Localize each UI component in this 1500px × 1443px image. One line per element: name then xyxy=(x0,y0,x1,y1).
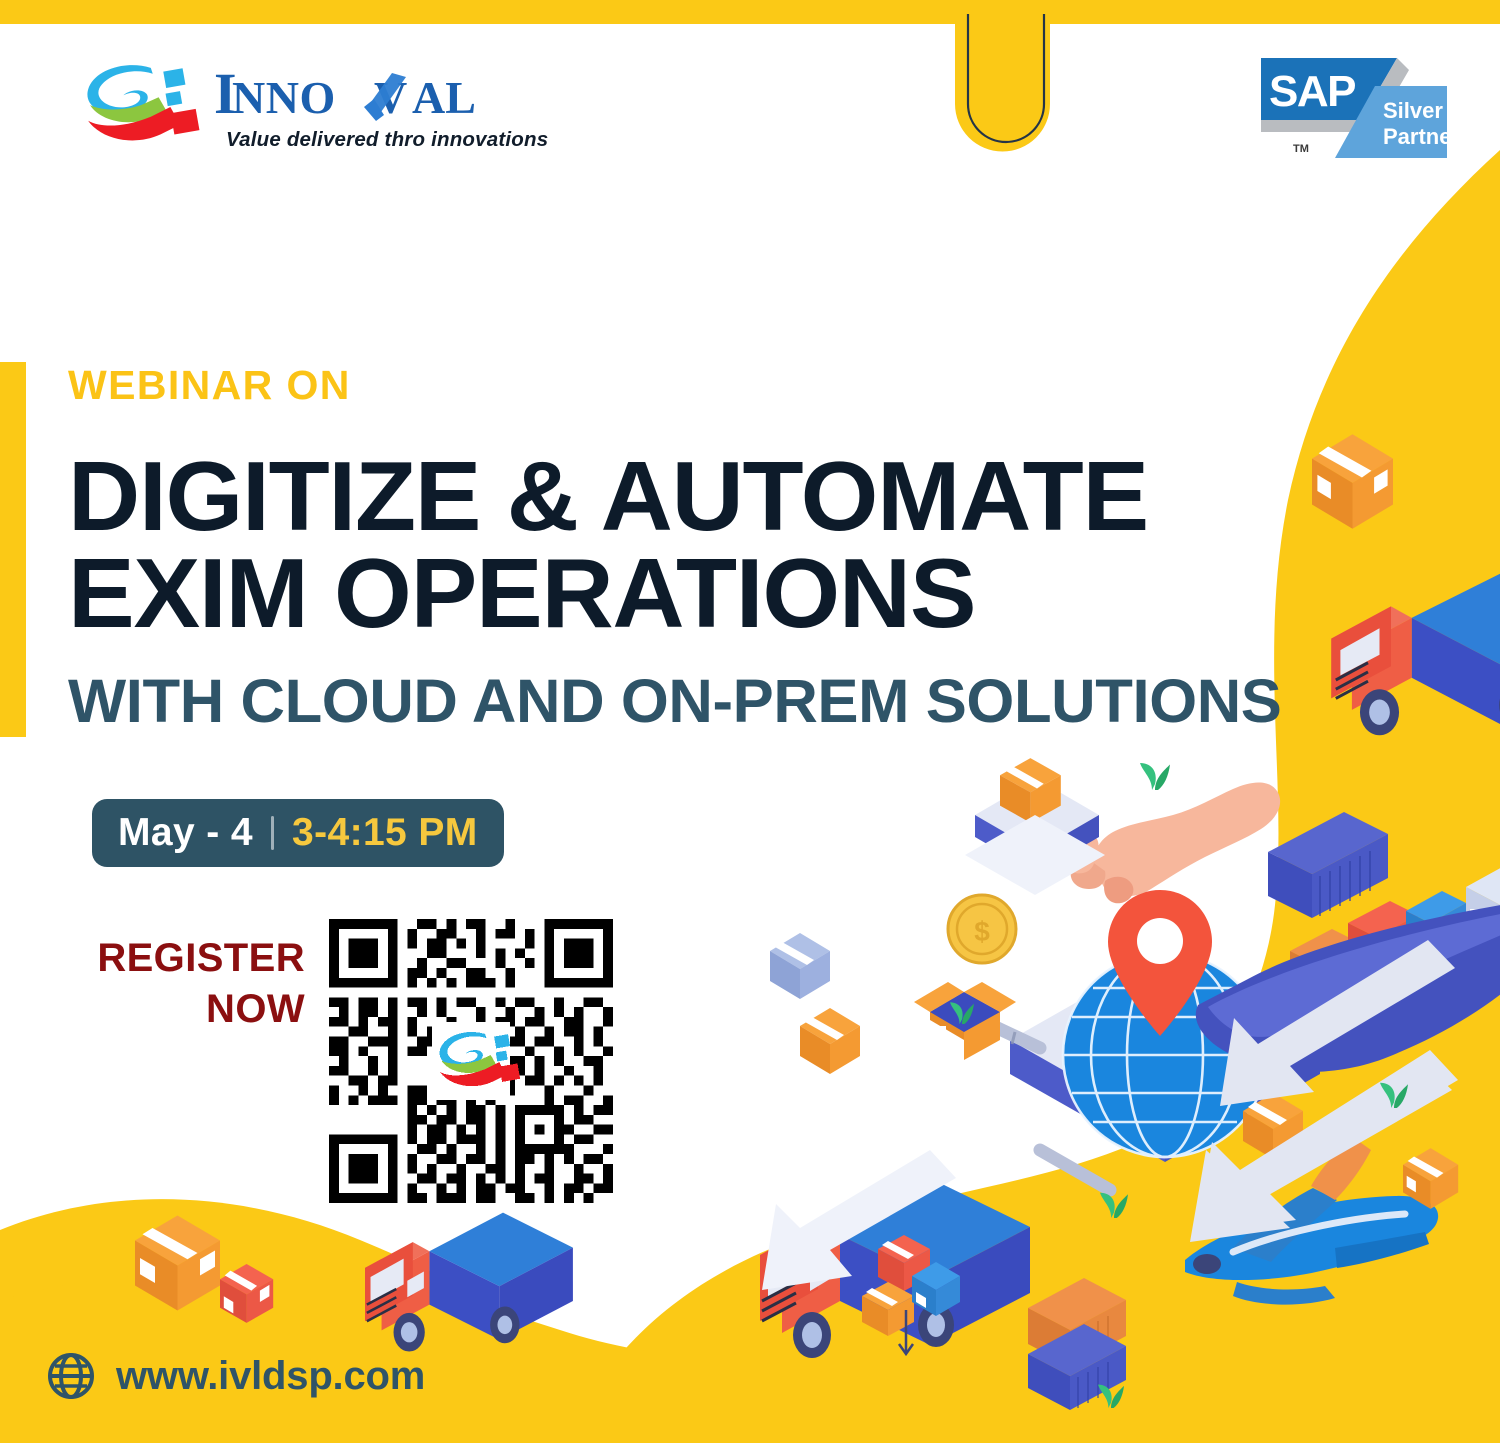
innoval-e-swoosh-icon xyxy=(82,62,200,154)
qr-code[interactable] xyxy=(329,919,613,1203)
sap-silver-partner-badge: SAP Silver Partner TM xyxy=(1257,48,1452,166)
headline-line-1: DIGITIZE & AUTOMATE xyxy=(68,448,1323,545)
subtitle: WITH CLOUD AND ON-PREM SOLUTIONS xyxy=(68,666,1281,736)
website-footer[interactable]: www.ivldsp.com xyxy=(48,1353,425,1399)
svg-text:$: $ xyxy=(974,916,990,947)
schedule-time: 3-4:15 PM xyxy=(292,811,478,855)
svg-text:NNO: NNO xyxy=(232,72,336,123)
svg-text:AL: AL xyxy=(412,72,476,123)
eyebrow-label: WEBINAR ON xyxy=(68,362,351,409)
register-now-label: REGISTER NOW xyxy=(90,933,305,1035)
innoval-logo: I NNO V AL Value delivered thro innovati… xyxy=(82,62,548,154)
register-line-2: NOW xyxy=(90,984,305,1035)
globe-icon xyxy=(48,1353,94,1399)
sap-tier-line1: Silver xyxy=(1383,98,1443,123)
trademark-mark: TM xyxy=(1293,143,1309,155)
sap-tier-line2: Partner xyxy=(1383,124,1452,149)
left-accent-bar xyxy=(0,362,26,737)
headline-line-2: EXIM OPERATIONS xyxy=(68,545,1323,642)
qr-code-icon[interactable] xyxy=(329,919,613,1203)
website-url[interactable]: www.ivldsp.com xyxy=(116,1354,425,1399)
page-title: DIGITIZE & AUTOMATE EXIM OPERATIONS xyxy=(68,448,1298,642)
register-line-1: REGISTER xyxy=(90,933,305,984)
logo-tagline: Value delivered thro innovations xyxy=(226,128,548,152)
schedule-date: May - 4 xyxy=(118,811,253,855)
schedule-divider xyxy=(271,816,274,850)
schedule-badge: May - 4 3-4:15 PM xyxy=(92,799,504,867)
innoval-wordmark: I NNO V AL xyxy=(214,63,524,127)
sap-logo-text: SAP xyxy=(1269,67,1355,116)
webinar-poster: $ xyxy=(0,0,1500,1443)
